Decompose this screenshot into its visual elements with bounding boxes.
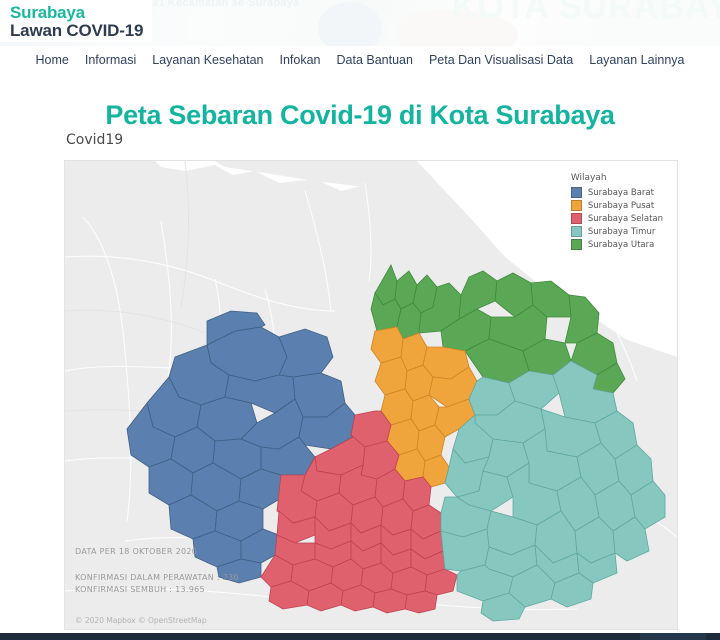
map-legend: Wilayah Surabaya Barat Surabaya Pusat Su… [565,171,669,256]
legend-label: Surabaya Barat [588,188,654,198]
map-note-data-date: DATA PER 18 OKTOBER 2020 [75,547,197,556]
logo-line-surabaya: Surabaya [10,4,152,22]
legend-item-surabaya-utara[interactable]: Surabaya Utara [571,239,663,250]
legend-item-surabaya-pusat[interactable]: Surabaya Pusat [571,200,663,211]
legend-swatch-icon [571,187,582,198]
map-container[interactable]: Wilayah Surabaya Barat Surabaya Pusat Su… [64,160,678,630]
legend-label: Surabaya Utara [588,240,655,250]
page-title: Peta Sebaran Covid-19 di Kota Surabaya [0,100,720,131]
legend-label: Surabaya Selatan [588,214,663,224]
legend-swatch-icon [571,200,582,211]
map-note-sembuh: KONFIRMASI SEMBUH : 13.965 [75,585,205,594]
legend-item-surabaya-timur[interactable]: Surabaya Timur [571,226,663,237]
site-logo[interactable]: Surabaya Lawan COVID-19 [0,0,152,42]
banner-ghost-text-left: 31 Kecamatan se-Surabaya [152,0,299,9]
map-attribution[interactable]: © 2020 Mapbox © OpenStreetMap [75,616,207,625]
legend-swatch-icon [571,213,582,224]
nav-item-infokan[interactable]: Infokan [279,53,320,67]
legend-item-surabaya-selatan[interactable]: Surabaya Selatan [571,213,663,224]
banner-decor-circle [318,2,382,46]
map-note-dalam-perawatan: KONFIRMASI DALAM PERAWATAN : 230 [75,573,239,582]
nav-item-peta-dan-visualisasi-data[interactable]: Peta Dan Visualisasi Data [429,53,573,67]
banner-ghost-text-right: KOTA SURABAYA [452,0,720,27]
legend-swatch-icon [571,239,582,250]
legend-swatch-icon [571,226,582,237]
nav-item-informasi[interactable]: Informasi [85,53,136,67]
main-navigation: Home Informasi Layanan Kesehatan Infokan… [0,46,720,74]
nav-item-layanan-lainnya[interactable]: Layanan Lainnya [589,53,684,67]
legend-label: Surabaya Pusat [588,201,654,211]
legend-label: Surabaya Timur [588,227,656,237]
nav-item-data-bantuan[interactable]: Data Bantuan [337,53,413,67]
nav-item-home[interactable]: Home [36,53,69,67]
map-canvas[interactable]: Wilayah Surabaya Barat Surabaya Pusat Su… [65,161,677,629]
viz-sheet-label: Covid19 [66,132,123,148]
legend-item-surabaya-barat[interactable]: Surabaya Barat [571,187,663,198]
legend-title: Wilayah [571,173,663,183]
nav-item-layanan-kesehatan[interactable]: Layanan Kesehatan [152,53,263,67]
footer-segment [640,633,706,640]
logo-line-lawan-covid: Lawan COVID-19 [10,22,152,40]
footer-bar [0,633,720,640]
